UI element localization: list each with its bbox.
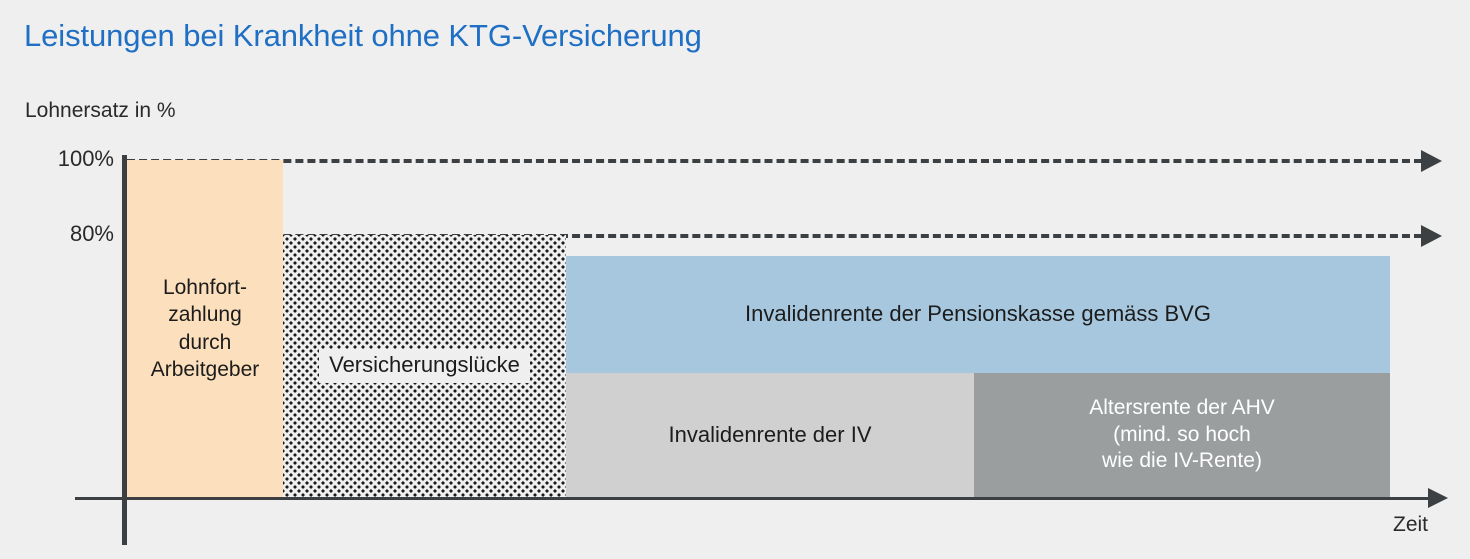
x-axis-arrow-icon <box>1428 488 1448 508</box>
segment-iv-disability-pension: Invalidenrente der IV <box>566 373 974 497</box>
segment-ahv-old-age-pension: Altersrente der AHV (mind. so hoch wie d… <box>974 373 1390 497</box>
gridline-100-arrow-icon <box>1421 150 1442 172</box>
x-axis-line <box>75 497 1432 500</box>
segment-insurance-gap-label: Versicherungslücke <box>319 349 530 384</box>
y-axis-caption: Lohnersatz in % <box>25 99 176 123</box>
y-axis-line <box>122 155 127 545</box>
gridline-80-arrow-icon <box>1421 225 1442 247</box>
chart-figure: Leistungen bei Krankheit ohne KTG-Versic… <box>0 0 1470 559</box>
y-axis-tick-100: 100% <box>8 146 114 172</box>
segment-employer-label: Lohnfort- zahlung durch Arbeitgeber <box>151 274 260 383</box>
segment-iv-label: Invalidenrente der IV <box>668 422 871 449</box>
x-axis-caption: Zeit <box>1393 513 1428 537</box>
chart-title: Leistungen bei Krankheit ohne KTG-Versic… <box>24 18 702 54</box>
gridline-100-percent <box>127 159 1422 163</box>
segment-employer-continued-pay: Lohnfort- zahlung durch Arbeitgeber <box>127 160 283 497</box>
segment-ahv-label: Altersrente der AHV (mind. so hoch wie d… <box>1089 395 1275 474</box>
segment-insurance-gap: Versicherungslücke <box>283 235 566 497</box>
segment-bvg-label: Invalidenrente der Pensionskasse gemäss … <box>745 301 1211 328</box>
y-axis-tick-80: 80% <box>8 221 114 247</box>
segment-bvg-disability-pension: Invalidenrente der Pensionskasse gemäss … <box>566 256 1390 373</box>
